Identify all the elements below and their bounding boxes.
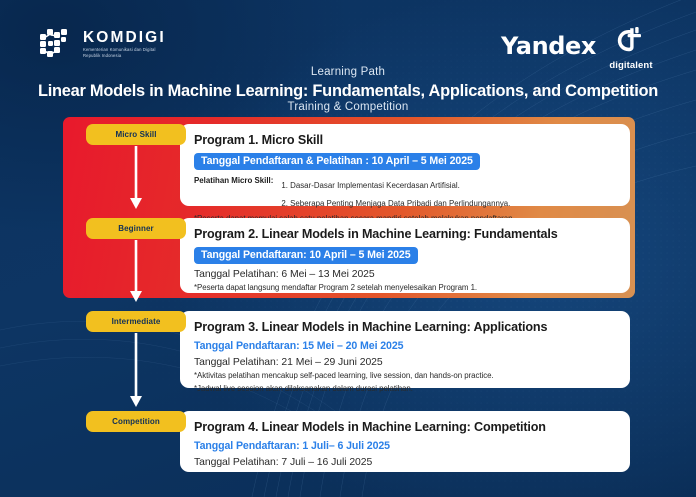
program-card-3[interactable]: Program 3. Linear Models in Machine Lear… [180,311,630,388]
program-card-4[interactable]: Program 4. Linear Models in Machine Lear… [180,411,630,472]
step-beginner: Beginner Program 2. Linear Models in Mac… [70,218,630,296]
level-badge-competition[interactable]: Competition [86,411,186,432]
program-1-training-list: Pelatihan Micro Skill: 1. Dasar-Dasar Im… [194,175,617,211]
program-4-training-date: Tanggal Pelatihan: 7 Juli – 16 Juli 2025 [194,457,617,468]
program-card-1[interactable]: Program 1. Micro Skill Tanggal Pendaftar… [180,124,630,206]
program-1-training-label: Pelatihan Micro Skill: [194,175,273,185]
program-1-title: Program 1. Micro Skill [194,133,617,149]
step-intermediate: Intermediate Program 3. Linear Models in… [70,311,630,389]
program-2-training-date: Tanggal Pelatihan: 6 Mei – 13 Mei 2025 [194,269,617,280]
program-1-registration-chip: Tanggal Pendaftaran & Pelatihan : 10 Apr… [194,153,480,171]
program-card-2[interactable]: Program 2. Linear Models in Machine Lear… [180,218,630,293]
level-badge-micro-skill[interactable]: Micro Skill [86,124,186,145]
program-2-registration-chip: Tanggal Pendaftaran: 10 April – 5 Mei 20… [194,247,418,265]
learning-path-poster: KOMDIGI Kementerian Komunikasi dan Digit… [0,0,696,497]
step-micro-skill: Micro Skill Program 1. Micro Skill Tangg… [70,124,630,212]
program-1-training-item-2: 2. Seberapa Penting Menjaga Data Pribadi… [281,199,510,208]
program-1-training-item-1: 1. Dasar-Dasar Implementasi Kecerdasan A… [281,181,460,190]
step-competition: Competition Program 4. Linear Models in … [70,411,630,473]
program-4-title: Program 4. Linear Models in Machine Lear… [194,420,617,436]
program-3-registration-date: Tanggal Pendaftaran: 15 Mei – 20 Mei 202… [194,340,617,352]
program-3-title: Program 3. Linear Models in Machine Lear… [194,320,617,336]
level-badge-intermediate[interactable]: Intermediate [86,311,186,332]
program-3-note-2: *Jadwal live session akan dilaksanakan d… [194,384,617,395]
program-2-note: *Peserta dapat langsung mendaftar Progra… [194,283,617,294]
program-2-title: Program 2. Linear Models in Machine Lear… [194,227,617,243]
program-4-registration-date: Tanggal Pendaftaran: 1 Juli– 6 Juli 2025 [194,440,617,452]
program-1-training-items: 1. Dasar-Dasar Implementasi Kecerdasan A… [281,175,617,211]
learning-path-steps: Micro Skill Program 1. Micro Skill Tangg… [0,0,696,497]
program-3-training-date: Tanggal Pelatihan: 21 Mei – 29 Juni 2025 [194,357,617,368]
level-badge-beginner[interactable]: Beginner [86,218,186,239]
program-3-note-1: *Aktivitas pelatihan mencakup self-paced… [194,371,617,382]
